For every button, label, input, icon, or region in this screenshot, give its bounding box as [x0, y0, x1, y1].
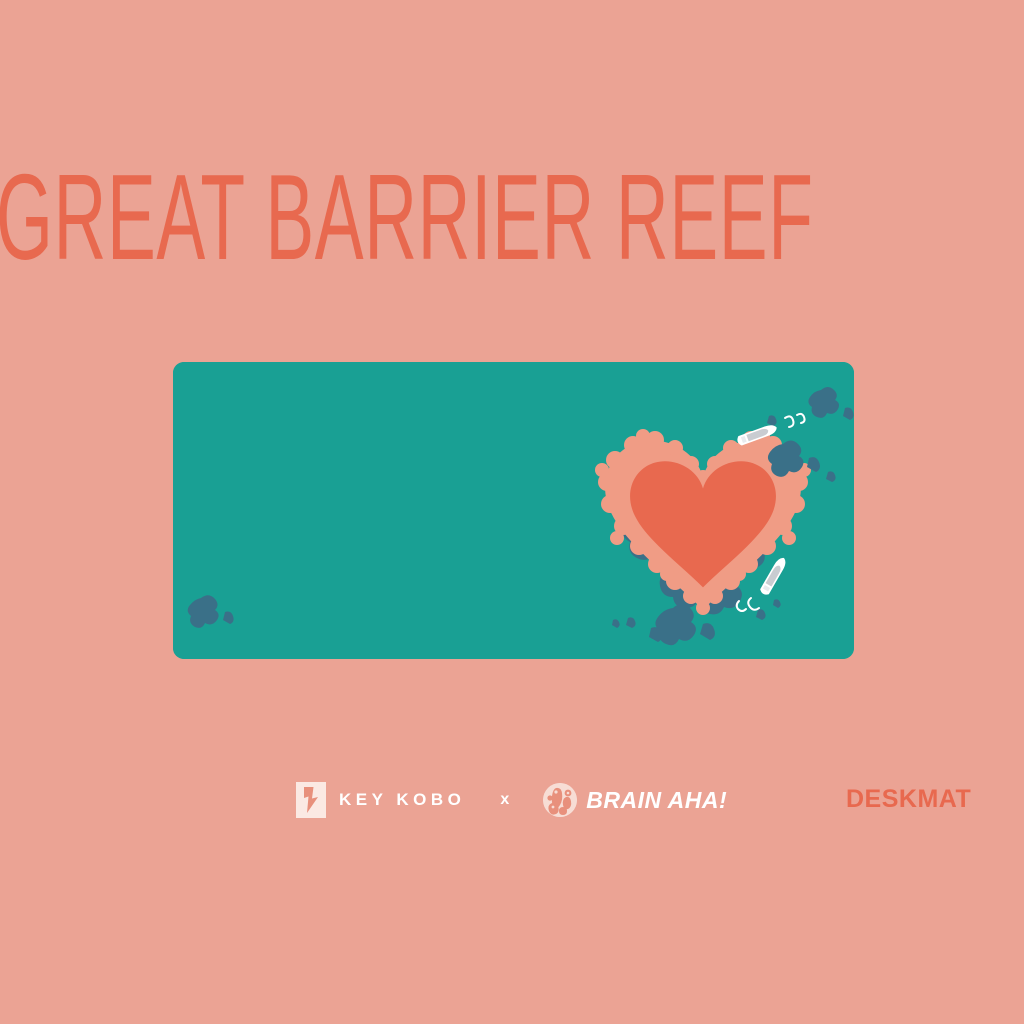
lightning-bolt-icon: [296, 782, 326, 818]
brand-separator: x: [500, 791, 509, 809]
brand-brain-aha-label: BRAIN AHA!: [586, 787, 727, 814]
heart-reef-illustration: [173, 362, 854, 659]
footer-brand-bar: KEY KOBO x: [0, 775, 1024, 825]
circle-mascot-icon: [543, 783, 577, 817]
product-type-label: DESKMAT: [846, 785, 971, 814]
brand-key-kobo-label: KEY KOBO: [339, 790, 465, 810]
poster-canvas: GREAT BARRIER REEF: [0, 0, 1024, 1024]
page-title: GREAT BARRIER REEF: [0, 156, 814, 278]
deskmat-surface: [173, 362, 854, 659]
deskmat-product-image: [173, 362, 854, 659]
brand-lockup: KEY KOBO x: [296, 775, 727, 825]
